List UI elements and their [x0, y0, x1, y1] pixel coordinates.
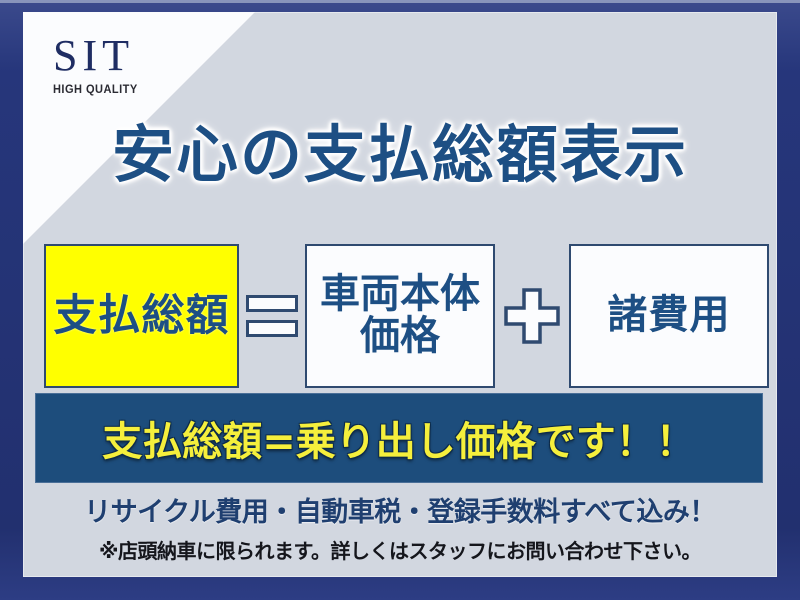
- equals-bar-bottom: [246, 320, 298, 337]
- other-fees-box: 諸費用: [569, 244, 769, 388]
- other-fees-label: 諸費用: [608, 295, 731, 337]
- total-payment-box: 支払総額: [44, 244, 239, 388]
- disclaimer-text: ※店頭納車に限られます。詳しくはスタッフにお問い合わせ下さい。: [23, 535, 777, 564]
- plus-icon: [499, 288, 565, 344]
- included-fees-text: リサイクル費用・自動車税・登録手数料すべて込み！: [23, 490, 777, 529]
- page-title: 安心の支払総額表示: [23, 124, 777, 186]
- logo-tagline: HIGH QUALITY: [53, 82, 219, 96]
- poster-panel: SIT HIGH QUALITY 安心の支払総額表示 支払総額 車両本体価格: [23, 12, 777, 577]
- payment-total-poster: SIT HIGH QUALITY 安心の支払総額表示 支払総額 車両本体価格: [0, 0, 800, 600]
- logo-wordmark: SIT: [53, 34, 233, 78]
- frame-top-highlight: [0, 0, 800, 3]
- vehicle-price-label: 車両本体価格: [311, 274, 489, 357]
- plus-icon-shape: [504, 288, 560, 344]
- drive-away-price-banner: 支払総額=乗り出し価格です！！: [35, 393, 763, 483]
- equals-bar-top: [246, 295, 298, 312]
- equals-icon: [241, 295, 303, 337]
- banner-text: 支払総額=乗り出し価格です！！: [102, 409, 696, 467]
- price-formula-row: 支払総額 車両本体価格 諸費用: [31, 242, 769, 390]
- brand-logo: SIT HIGH QUALITY: [53, 34, 233, 96]
- total-payment-label: 支払総額: [54, 294, 230, 339]
- vehicle-price-box: 車両本体価格: [305, 244, 495, 388]
